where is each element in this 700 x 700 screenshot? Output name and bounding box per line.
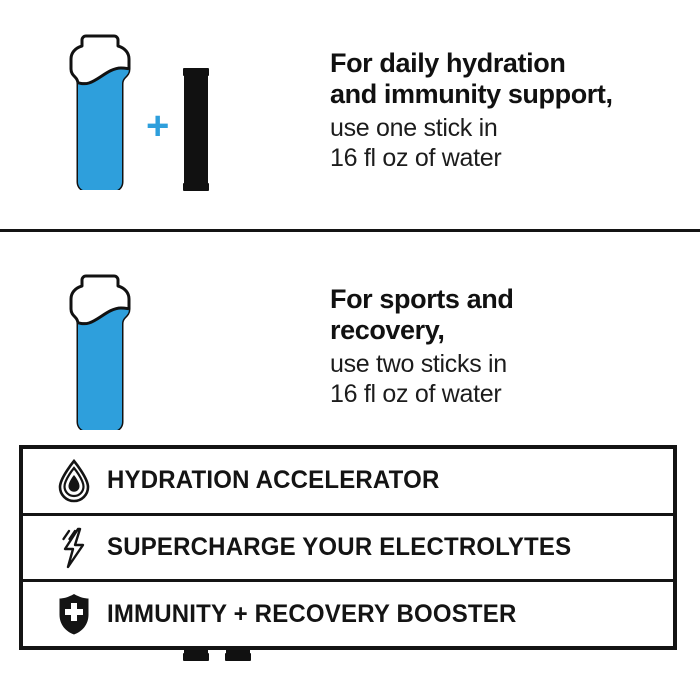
usage-section-daily-hydration: + For daily hydration and immunity suppo… [0,22,700,217]
stick-body [184,72,208,187]
benefit-row: SUPERCHARGE YOUR ELECTROLYTES [23,516,673,583]
usage-visual-1: + [0,22,330,217]
water-droplet-icon [47,458,101,504]
water-bottle-icon [63,270,147,430]
stick-pack-icon [183,66,209,193]
usage-subline-2: use two sticks in 16 fl oz of water [330,349,700,409]
stick-crimp-bottom [183,183,209,191]
infographic-page: + For daily hydration and immunity suppo… [0,0,700,700]
benefits-box: HYDRATION ACCELERATOR SUPERCHARGE YOUR E… [19,445,677,650]
benefit-label: IMMUNITY + RECOVERY BOOSTER [107,600,516,629]
usage-visual-2: + [0,258,330,433]
stick-pack-group-1 [183,66,209,193]
section-divider [0,229,700,232]
water-bottle-icon [63,30,147,190]
benefit-row: HYDRATION ACCELERATOR [23,449,673,516]
benefit-label: SUPERCHARGE YOUR ELECTROLYTES [107,533,571,562]
benefit-label: HYDRATION ACCELERATOR [107,466,439,495]
lightning-bolt-icon [47,525,101,571]
usage-subline-1: use one stick in 16 fl oz of water [330,113,700,173]
usage-headline-1: For daily hydration and immunity support… [330,48,700,111]
shield-cross-icon [47,591,101,637]
usage-section-sports-recovery: + For sports and recovery, use two stick… [0,258,700,433]
stick-crimp-bottom [183,653,209,661]
stick-crimp-bottom [225,653,251,661]
plus-symbol-1: + [146,106,169,146]
usage-headline-2: For sports and recovery, [330,284,700,347]
usage-text-2: For sports and recovery, use two sticks … [330,258,700,409]
usage-text-1: For daily hydration and immunity support… [330,22,700,173]
benefit-row: IMMUNITY + RECOVERY BOOSTER [23,582,673,646]
